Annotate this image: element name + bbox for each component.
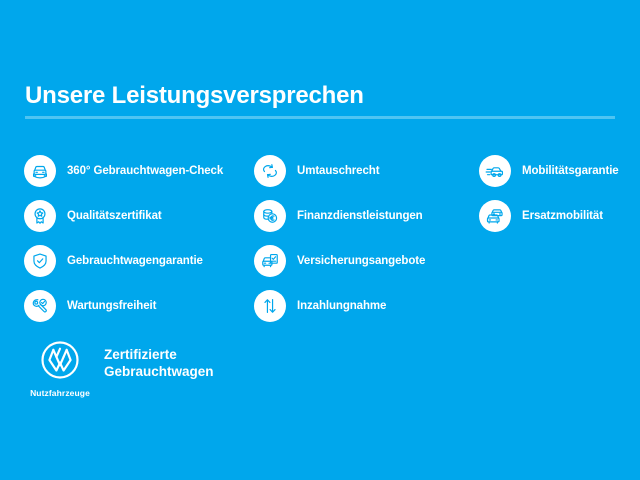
volkswagen-roundel-icon	[40, 340, 80, 385]
feature-item-exchange-right[interactable]: Umtauschrecht	[254, 148, 479, 193]
feature-label: Umtauschrecht	[297, 164, 379, 178]
wrench-check-icon	[24, 290, 56, 322]
title-divider	[25, 116, 615, 119]
quality-seal-icon	[24, 200, 56, 232]
feature-column-1: 360° Gebrauchtwagen-Check Qualitätszerti…	[24, 148, 254, 328]
feature-item-maintenance-free[interactable]: Wartungsfreiheit	[24, 283, 254, 328]
shield-check-icon	[24, 245, 56, 277]
feature-item-insurance-offers[interactable]: Versicherungsangebote	[254, 238, 479, 283]
feature-column-2: Umtauschrecht Finanzdienstleistungen	[254, 148, 479, 328]
feature-item-replacement-mobility[interactable]: Ersatzmobilität	[479, 193, 639, 238]
exchange-arrows-icon	[254, 155, 286, 187]
page-header: Unsere Leistungsversprechen	[25, 82, 615, 119]
feature-column-3: Mobilitätsgarantie Ersatzmobilität	[479, 148, 639, 238]
up-down-arrows-icon	[254, 290, 286, 322]
feature-item-360-check[interactable]: 360° Gebrauchtwagen-Check	[24, 148, 254, 193]
brand-mark: Nutzfahrzeuge	[24, 340, 96, 398]
feature-label: Versicherungsangebote	[297, 254, 425, 268]
brand-lockup: Nutzfahrzeuge Zertifizierte Gebrauchtwag…	[24, 340, 214, 398]
feature-label: Qualitätszertifikat	[67, 209, 162, 223]
brand-claim: Zertifizierte Gebrauchtwagen	[104, 346, 214, 380]
feature-item-mobility-guarantee[interactable]: Mobilitätsgarantie	[479, 148, 639, 193]
two-cars-icon	[479, 200, 511, 232]
feature-label: Gebrauchtwagengarantie	[67, 254, 203, 268]
feature-label: Inzahlungnahme	[297, 299, 386, 313]
brand-claim-line-1: Zertifizierte	[104, 346, 214, 363]
feature-item-financial-services[interactable]: Finanzdienstleistungen	[254, 193, 479, 238]
feature-label: 360° Gebrauchtwagen-Check	[67, 164, 223, 178]
feature-item-trade-in[interactable]: Inzahlungnahme	[254, 283, 479, 328]
feature-label: Ersatzmobilität	[522, 209, 603, 223]
feature-item-quality-certificate[interactable]: Qualitätszertifikat	[24, 193, 254, 238]
brand-sub-label: Nutzfahrzeuge	[30, 388, 90, 398]
feature-label: Finanzdienstleistungen	[297, 209, 423, 223]
brand-claim-line-2: Gebrauchtwagen	[104, 363, 214, 380]
feature-label: Mobilitätsgarantie	[522, 164, 619, 178]
coins-euro-icon	[254, 200, 286, 232]
car-document-check-icon	[254, 245, 286, 277]
page-title: Unsere Leistungsversprechen	[25, 82, 615, 110]
car-360-check-icon	[24, 155, 56, 187]
feature-item-used-car-warranty[interactable]: Gebrauchtwagengarantie	[24, 238, 254, 283]
car-motion-icon	[479, 155, 511, 187]
feature-label: Wartungsfreiheit	[67, 299, 156, 313]
